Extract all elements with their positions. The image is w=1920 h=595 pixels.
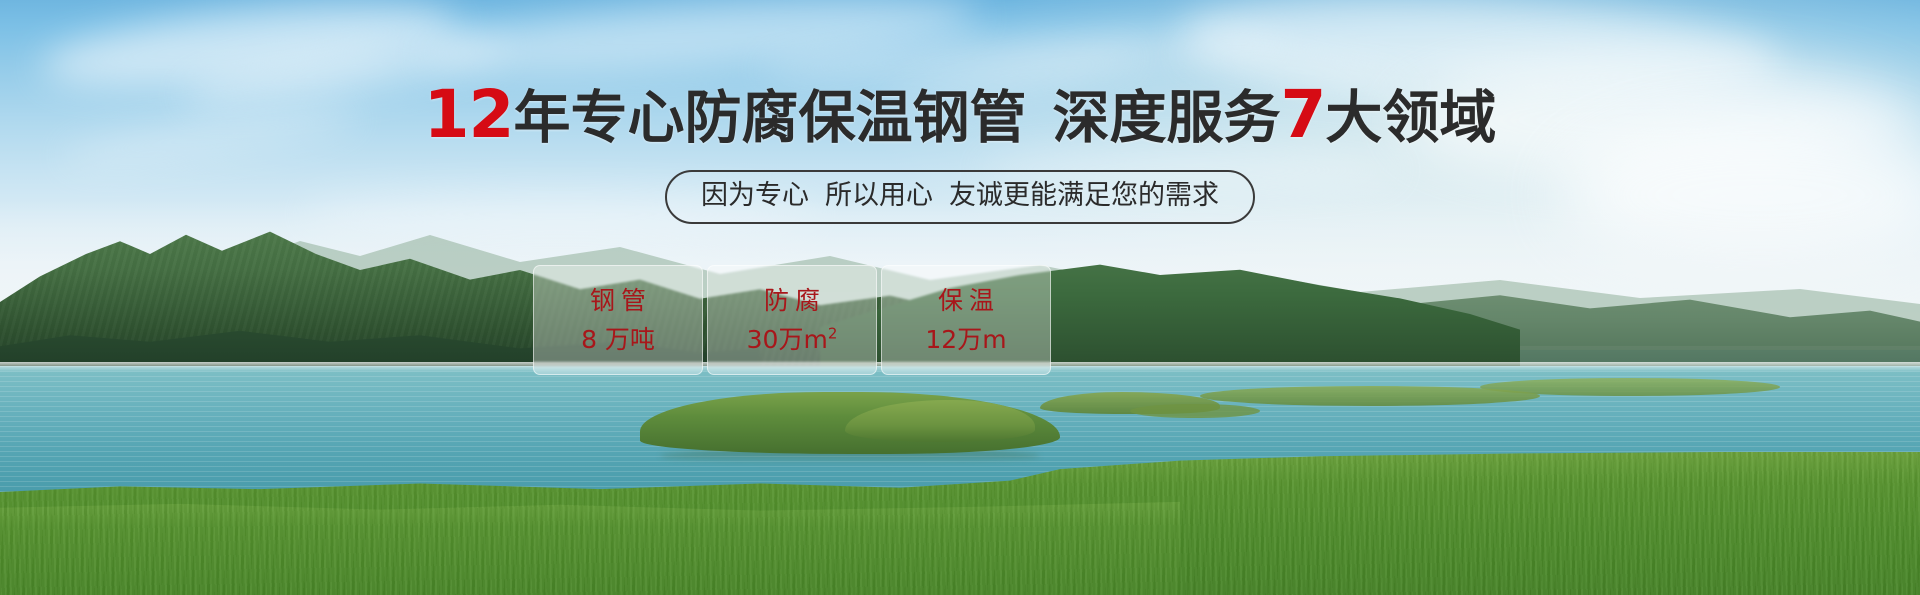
stat-card-value-text: 12万m [925, 325, 1006, 354]
tagline-part-2: 所以用心 [825, 180, 933, 211]
banner-tagline-pill: 因为专心所以用心友诚更能满足您的需求 [665, 170, 1255, 224]
tagline-part-1: 因为专心 [701, 180, 809, 211]
tagline-part-3: 友诚更能满足您的需求 [949, 180, 1219, 211]
headline-years-number: 12 [424, 76, 514, 153]
stat-card-label: 保温 [932, 287, 1000, 314]
promo-banner: 12年专心防腐保温钢管深度服务7大领域 因为专心所以用心友诚更能满足您的需求 钢… [0, 0, 1920, 595]
stat-card-group: 钢管 8 万吨 防腐 30万m2 保温 12万m [533, 265, 1051, 375]
stat-card-value-text: 30万m [747, 325, 828, 354]
stat-card-insulation[interactable]: 保温 12万m [881, 265, 1051, 375]
stat-card-anticorrosion[interactable]: 防腐 30万m2 [707, 265, 877, 375]
headline-service-text: 深度服务 [1052, 85, 1280, 151]
stat-card-value: 30万m2 [747, 326, 838, 353]
stat-card-steel-pipe[interactable]: 钢管 8 万吨 [533, 265, 703, 375]
stat-card-label: 防腐 [758, 287, 826, 314]
headline-main-text: 年专心防腐保温钢管 [513, 85, 1026, 151]
stat-card-value-text: 8 万吨 [581, 325, 655, 354]
banner-headline: 12年专心防腐保温钢管深度服务7大领域 [0, 84, 1920, 149]
headline-fields-text: 大领域 [1325, 85, 1496, 151]
stat-card-label: 钢管 [584, 287, 652, 314]
banner-content: 12年专心防腐保温钢管深度服务7大领域 因为专心所以用心友诚更能满足您的需求 钢… [0, 0, 1920, 595]
stat-card-value-superscript: 2 [828, 325, 838, 343]
headline-fields-number: 7 [1280, 76, 1325, 153]
stat-card-value: 8 万吨 [581, 326, 655, 353]
stat-card-value: 12万m [925, 326, 1006, 353]
